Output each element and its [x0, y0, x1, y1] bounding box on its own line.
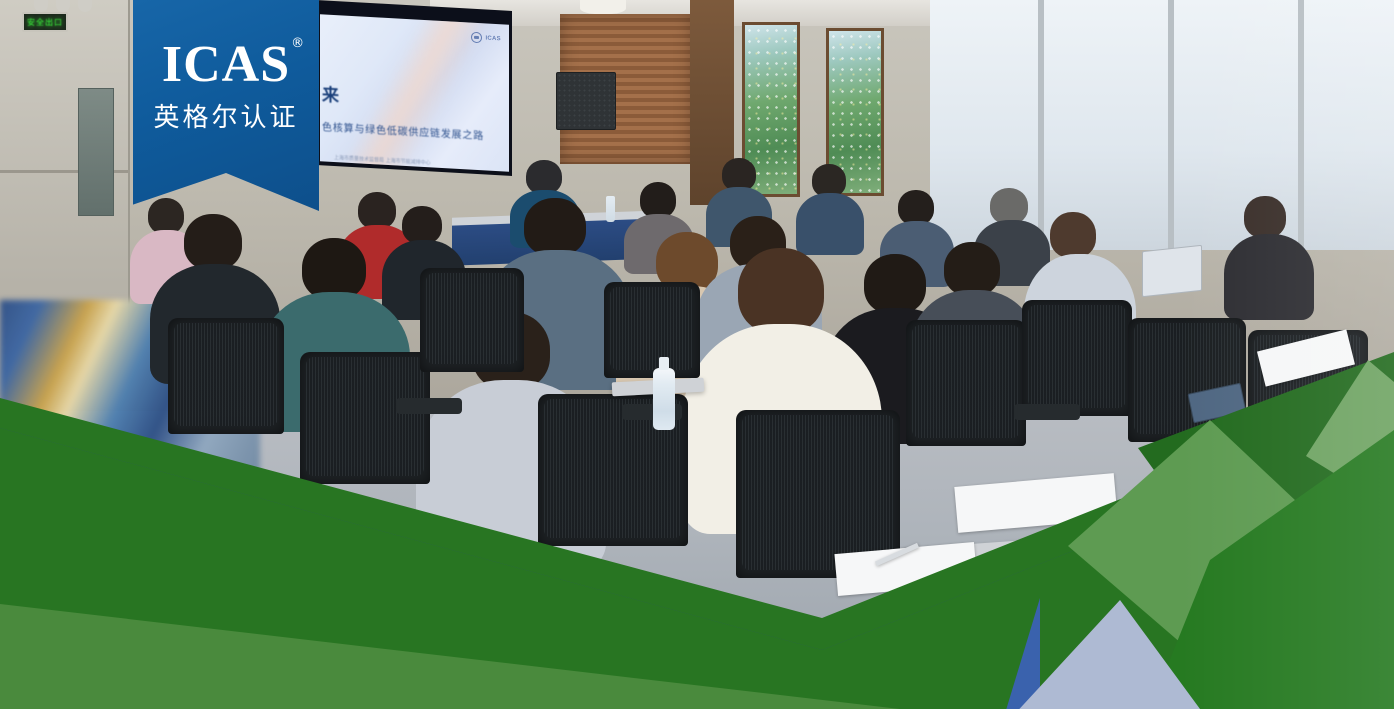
icas-chinese-name: 英格尔认证: [133, 97, 319, 134]
wall-speaker: [556, 72, 616, 130]
room-door: [78, 88, 114, 216]
window-mullion: [1168, 0, 1174, 250]
circle-mark-icon: [471, 32, 482, 44]
icas-logo-inner: ICAS® 英格尔认证: [133, 40, 319, 134]
exit-sign-label: 安全出口: [27, 17, 63, 28]
slide-logo-text: ICAS: [485, 35, 501, 42]
slide-title: 来: [322, 80, 340, 106]
office-chair: [604, 282, 700, 378]
office-chair: [168, 318, 284, 434]
window-mullion: [1038, 0, 1044, 250]
chair-armrest: [1014, 404, 1080, 420]
projection-screen-frame: ICAS 来 色核算与绿色低碳供应链发展之路 上海市质量技术监督局 上海市节能减…: [316, 0, 512, 176]
office-chair: [1128, 318, 1246, 442]
icas-wordmark-text: ICAS: [162, 36, 290, 93]
water-bottle: [606, 196, 615, 222]
slide-logo: ICAS: [471, 32, 501, 45]
registered-trademark-icon: ®: [291, 38, 305, 51]
laptop: [1142, 245, 1202, 297]
exit-sign: 安全出口: [22, 12, 68, 32]
office-chair: [1022, 300, 1132, 416]
office-chair: [906, 320, 1026, 446]
water-bottle: [653, 368, 675, 430]
projection-screen: ICAS 来 色核算与绿色低碳供应链发展之路 上海市质量技术监督局 上海市节能减…: [320, 14, 509, 172]
office-chair: [420, 268, 524, 372]
banner-root: 安全出口 ICAS 来 色核算与绿色低碳供应链发展之路 上海市质量技术监督局 上…: [0, 0, 1394, 709]
window-mullion: [1298, 0, 1304, 250]
chair-armrest: [396, 398, 462, 414]
icas-wordmark: ICAS®: [162, 40, 290, 91]
office-chair: [300, 352, 430, 484]
ceiling-light: [580, 0, 626, 14]
